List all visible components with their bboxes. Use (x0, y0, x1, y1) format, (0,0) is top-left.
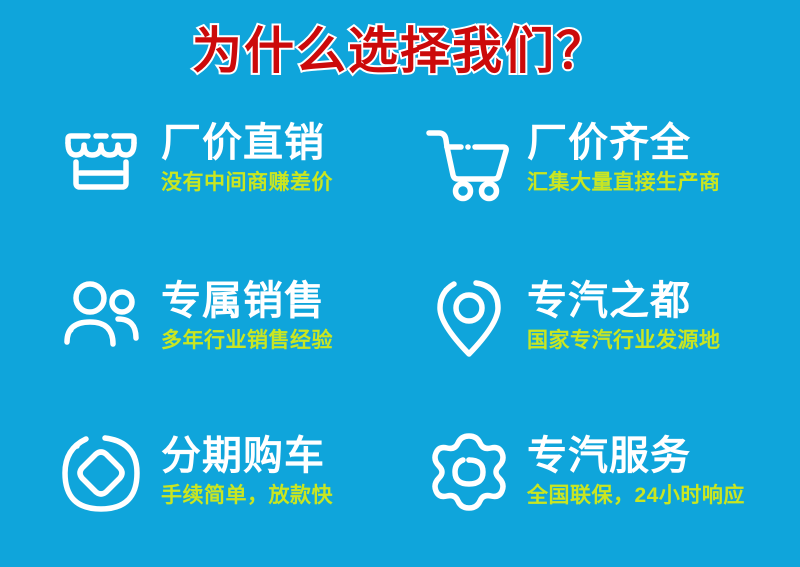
feature-item-installment: 分期购车 手续简单，放款快 (55, 425, 425, 535)
shopping-cart-icon (425, 114, 513, 206)
feature-subtitle: 多年行业销售经验 (161, 328, 333, 354)
feature-item-service: 专汽服务 全国联保，24小时响应 (425, 425, 755, 535)
feature-text: 专汽之都 国家专汽行业发源地 (527, 270, 721, 354)
feature-text: 专汽服务 全国联保，24小时响应 (527, 425, 745, 509)
feature-item-factory-direct: 厂价直销 没有中间商赚差价 (55, 112, 425, 270)
feature-title: 分期购车 (161, 433, 333, 479)
gear-icon (425, 427, 513, 519)
diamond-in-circle-icon (55, 427, 147, 519)
feature-text: 分期购车 手续简单，放款快 (161, 425, 333, 509)
feature-subtitle: 手续简单，放款快 (161, 483, 333, 509)
map-pin-icon (425, 272, 513, 364)
feature-title: 专汽服务 (527, 433, 745, 479)
feature-subtitle: 国家专汽行业发源地 (527, 328, 721, 354)
feature-text: 专属销售 多年行业销售经验 (161, 270, 333, 354)
feature-grid: 厂价直销 没有中间商赚差价 厂价齐全 汇集大量直接生产商 (55, 112, 755, 535)
feature-subtitle: 汇集大量直接生产商 (527, 170, 721, 196)
feature-text: 厂价直销 没有中间商赚差价 (161, 112, 333, 196)
feature-item-auto-capital: 专汽之都 国家专汽行业发源地 (425, 270, 755, 425)
page-title-text: 为什么选择我们？ (192, 22, 608, 80)
feature-title: 专汽之都 (527, 278, 721, 324)
feature-item-full-range: 厂价齐全 汇集大量直接生产商 (425, 112, 755, 270)
feature-subtitle: 全国联保，24小时响应 (527, 483, 745, 509)
feature-subtitle: 没有中间商赚差价 (161, 170, 333, 196)
feature-text: 厂价齐全 汇集大量直接生产商 (527, 112, 721, 196)
feature-item-dedicated-sales: 专属销售 多年行业销售经验 (55, 270, 425, 425)
feature-title: 厂价齐全 (527, 120, 721, 166)
feature-title: 厂价直销 (161, 120, 333, 166)
promo-banner: 为什么选择我们？ 厂价直销 没有中间商赚差价 (0, 0, 800, 567)
shop-icon (55, 114, 147, 206)
page-title: 为什么选择我们？ (0, 22, 800, 80)
feature-title: 专属销售 (161, 278, 333, 324)
two-people-icon (55, 272, 147, 364)
